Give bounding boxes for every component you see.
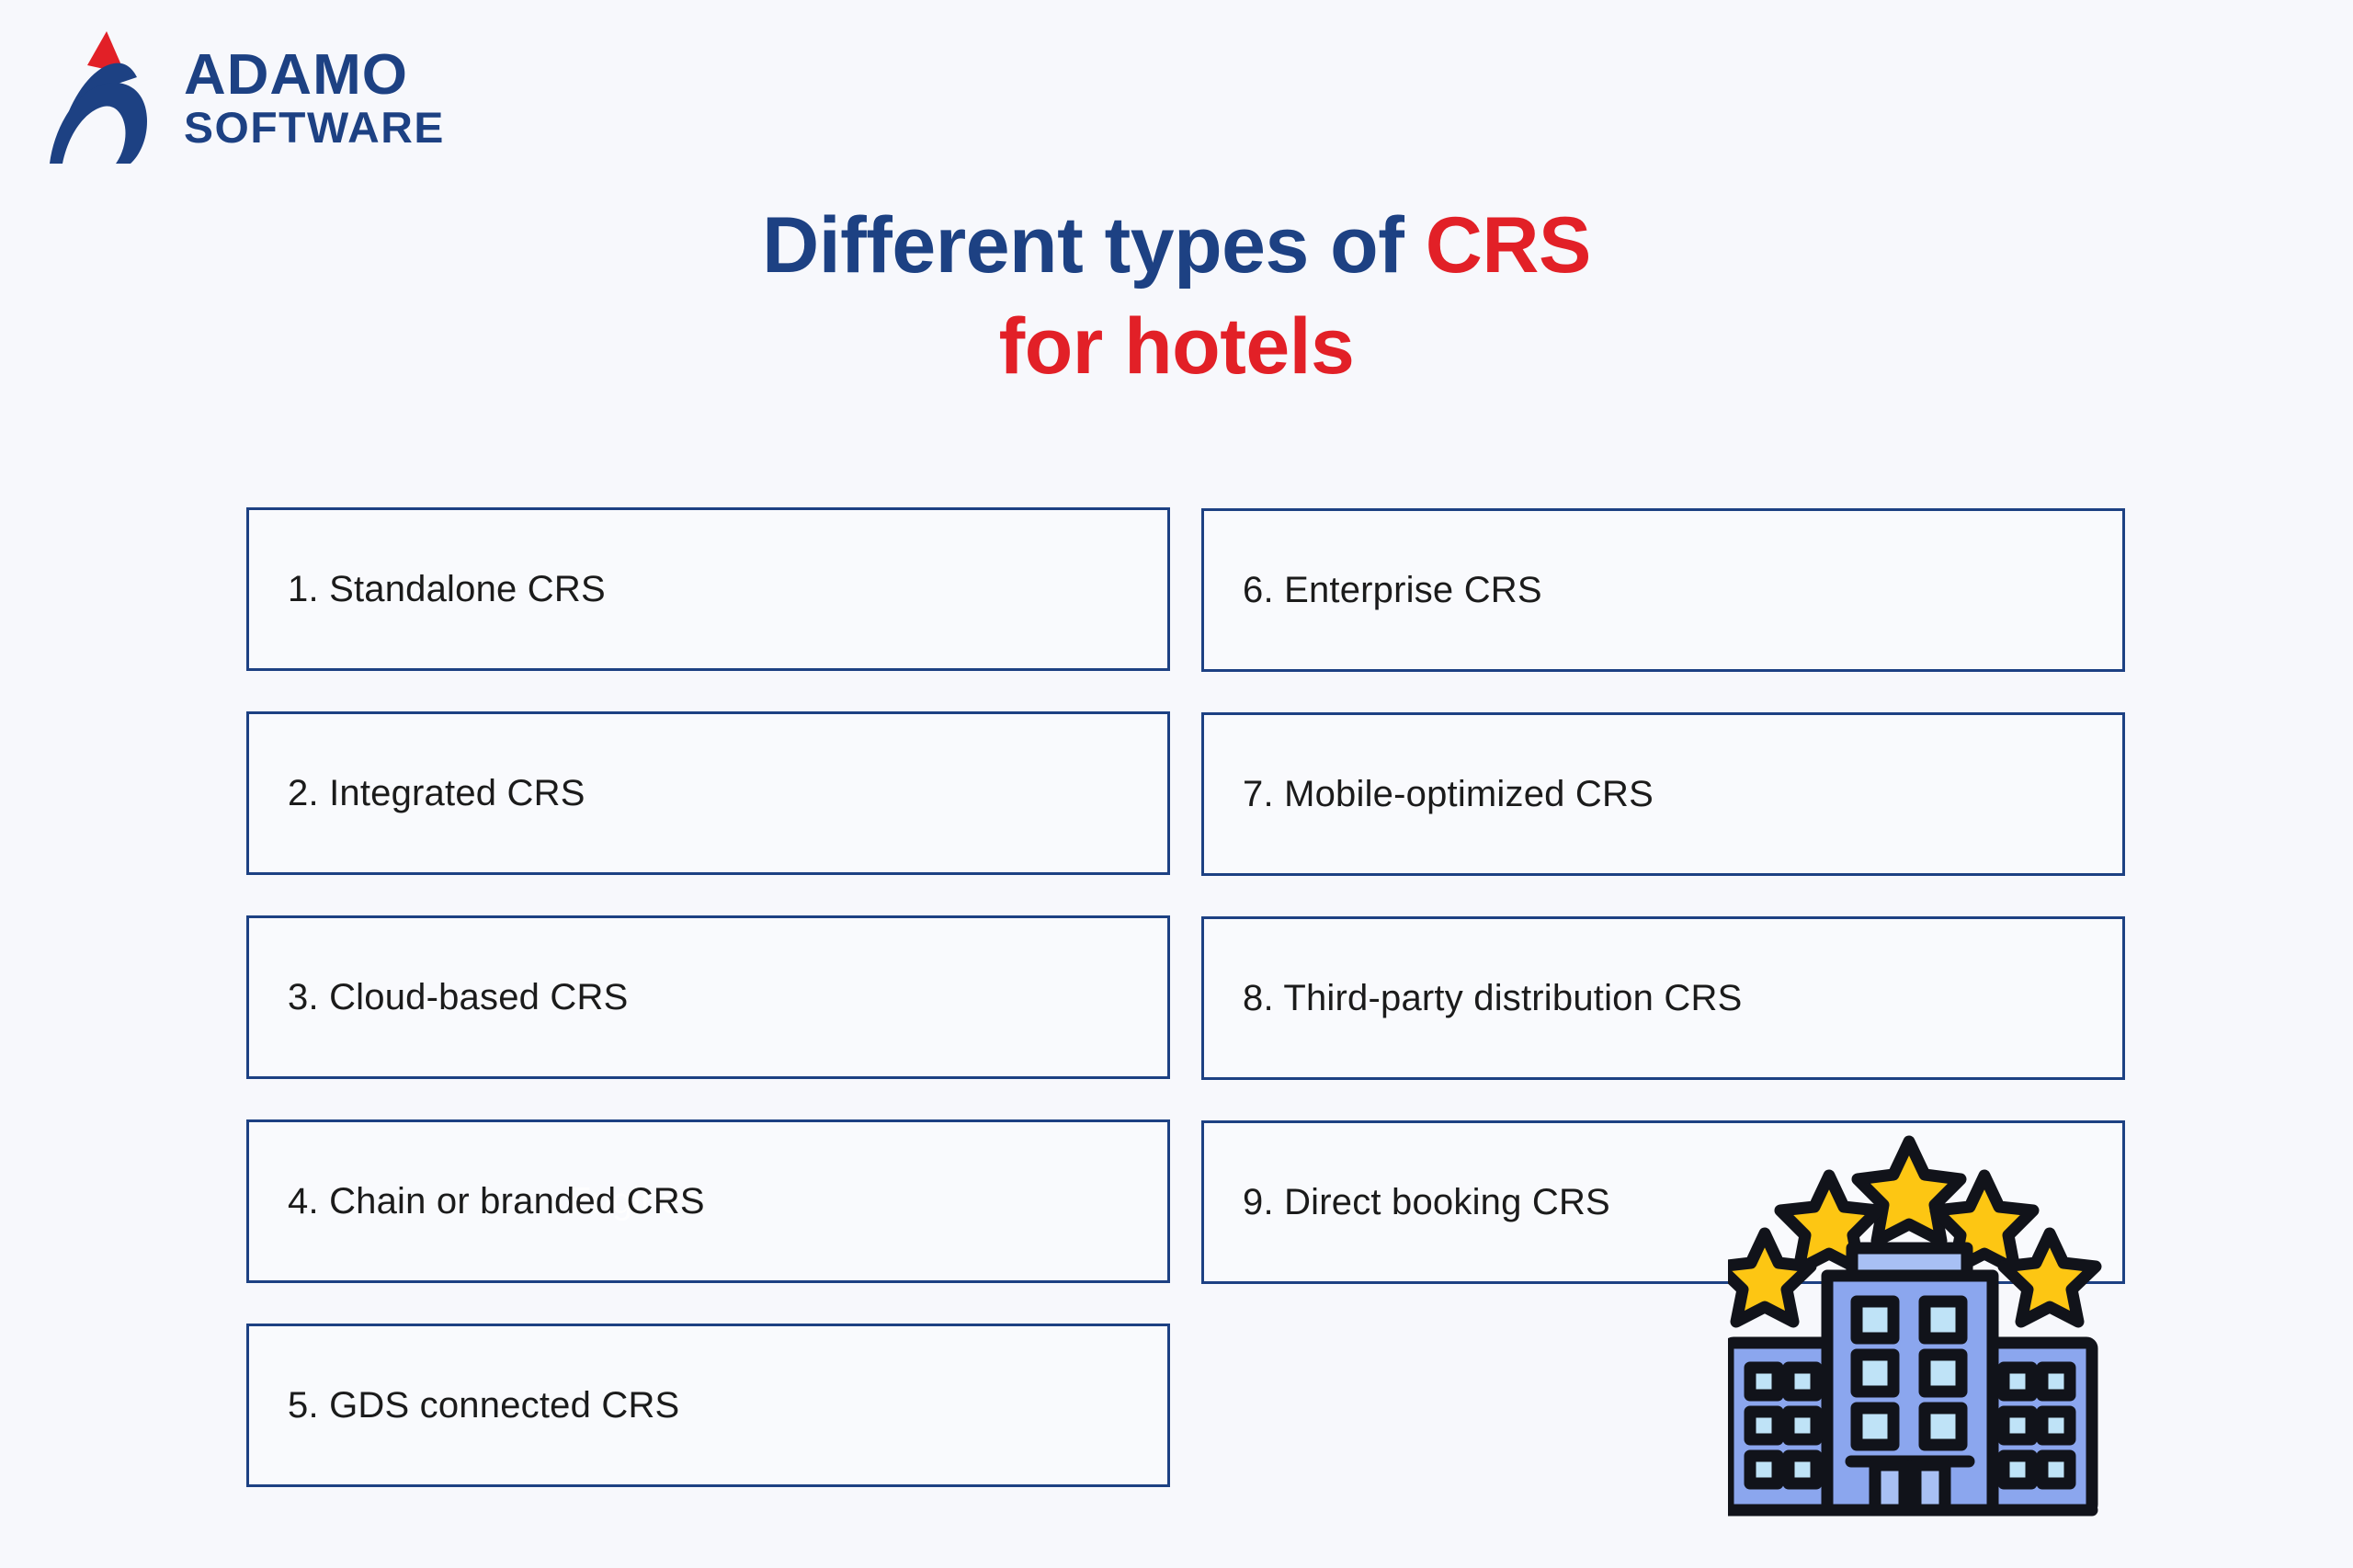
crs-item-8[interactable]: 8. Third-party distribution CRS <box>1201 916 2125 1080</box>
hotel-window <box>2042 1412 2070 1439</box>
crs-item-label: 9. Direct booking CRS <box>1243 1182 1610 1223</box>
hotel-window <box>2042 1456 2070 1483</box>
hotel-window <box>2004 1456 2031 1483</box>
hotel-left-wing <box>1728 1343 1828 1510</box>
crs-item-7[interactable]: 7. Mobile-optimized CRS <box>1201 712 2125 876</box>
crs-item-label: 4. Chain or branded CRS <box>288 1181 705 1222</box>
logo-word-adamo: ADAMO <box>184 47 445 104</box>
title-text-primary: Different types of <box>762 201 1426 290</box>
hotel-window <box>2004 1412 2031 1439</box>
crs-item-5[interactable]: 5. GDS connected CRS <box>246 1324 1170 1487</box>
crs-item-4[interactable]: 4. Chain or branded CRS Engines <box>246 1119 1170 1283</box>
hotel-window <box>2042 1368 2070 1395</box>
hotel-window <box>1857 1408 1893 1445</box>
crs-item-label: 7. Mobile-optimized CRS <box>1243 774 1654 815</box>
hotel-window <box>2004 1368 2031 1395</box>
hotel-window <box>1750 1456 1778 1483</box>
page-title: Different types of CRS for hotels <box>0 195 2353 397</box>
crs-item-label: 8. Third-party distribution CRS <box>1243 978 1742 1019</box>
logo-word-software: SOFTWARE <box>184 106 445 149</box>
adamo-arrow-logo-icon <box>44 26 164 164</box>
crs-item-3[interactable]: 3. Cloud-based CRS <box>246 915 1170 1079</box>
crs-item-9[interactable]: 9. Direct booking CRS <box>1201 1120 2125 1284</box>
crs-item-label: 6. Enterprise CRS <box>1243 570 1542 611</box>
title-text-accent: CRS <box>1426 201 1591 290</box>
hotel-window <box>1925 1355 1961 1392</box>
crs-item-label: 1. Standalone CRS <box>288 569 606 610</box>
crs-list-left-column: 1. Standalone CRS 2. Integrated CRS 3. C… <box>246 507 1170 1528</box>
logo-wordmark: ADAMO SOFTWARE <box>184 41 439 149</box>
crs-item-6[interactable]: 6. Enterprise CRS <box>1201 508 2125 672</box>
crs-item-1[interactable]: 1. Standalone CRS <box>246 507 1170 671</box>
title-line-2: for hotels <box>0 296 2353 397</box>
hotel-entrance-door <box>1915 1465 1945 1510</box>
hotel-window <box>1789 1412 1816 1439</box>
hotel-window <box>1789 1456 1816 1483</box>
crs-item-label: 2. Integrated CRS <box>288 773 585 814</box>
hotel-entrance-door <box>1875 1465 1904 1510</box>
crs-item-label: 5. GDS connected CRS <box>288 1385 679 1426</box>
title-line-1: Different types of CRS <box>0 195 2353 296</box>
hotel-window <box>1789 1368 1816 1395</box>
hotel-window <box>1750 1412 1778 1439</box>
crs-item-2[interactable]: 2. Integrated CRS <box>246 711 1170 875</box>
hotel-right-wing <box>1992 1343 2092 1510</box>
crs-item-label: 3. Cloud-based CRS <box>288 977 628 1018</box>
hotel-window <box>1750 1368 1778 1395</box>
crs-list-right-column: 6. Enterprise CRS 7. Mobile-optimized CR… <box>1201 508 2125 1324</box>
hotel-window <box>1925 1408 1961 1445</box>
adamo-software-logo: ADAMO SOFTWARE <box>44 26 439 164</box>
hotel-window <box>1857 1355 1893 1392</box>
